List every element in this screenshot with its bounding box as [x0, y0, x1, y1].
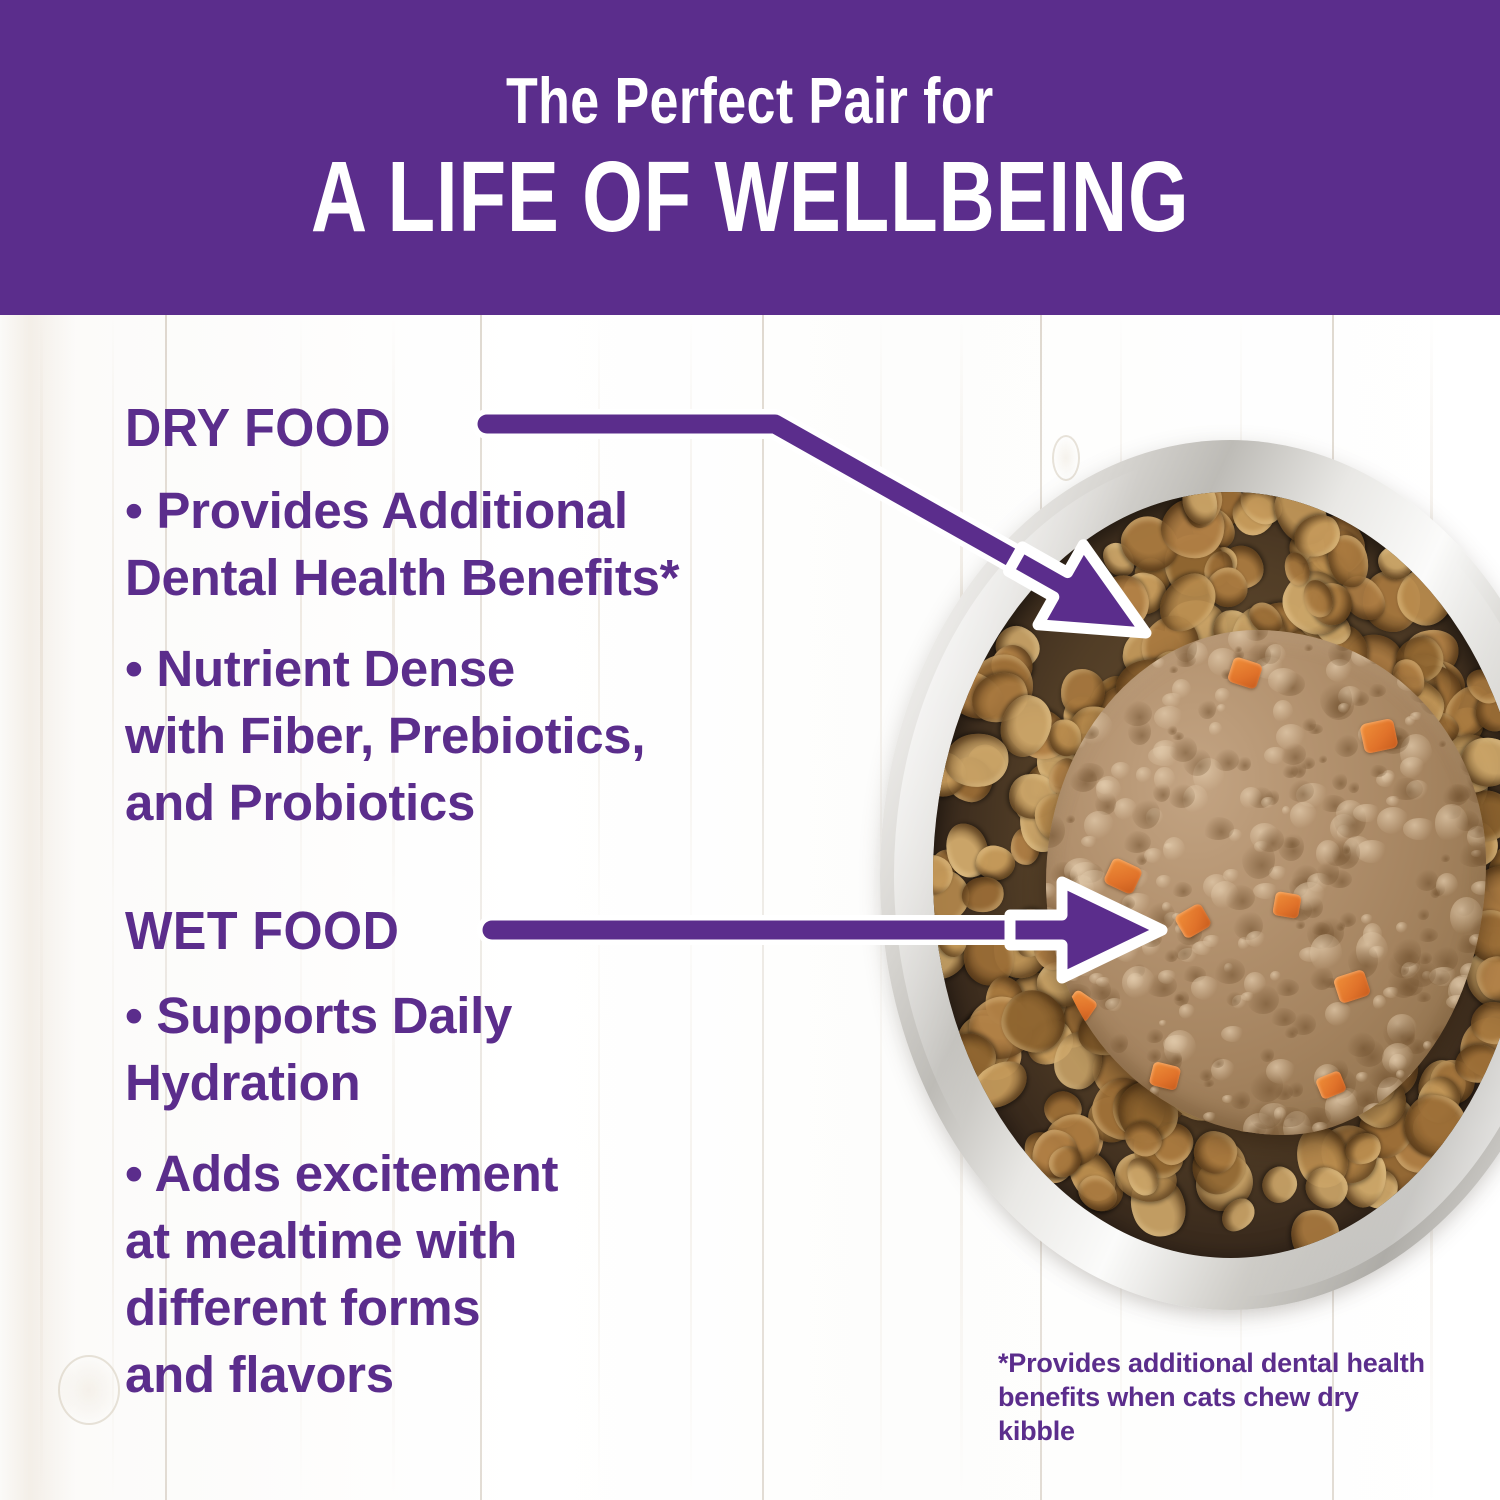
pate-texture	[1186, 630, 1204, 640]
bullet-item: • Supports Daily Hydration	[125, 982, 825, 1116]
pate-texture	[1105, 998, 1124, 1011]
pate-texture	[1417, 928, 1438, 941]
pate-texture	[1169, 736, 1197, 762]
pate-texture	[1083, 1103, 1093, 1111]
pate-texture	[1393, 937, 1422, 966]
pate-texture	[1056, 874, 1081, 898]
pate-texture	[1310, 934, 1342, 972]
pate-texture	[1217, 704, 1226, 712]
pate-texture	[1410, 712, 1423, 720]
pate-texture	[1209, 722, 1222, 736]
pate-texture	[1096, 776, 1121, 804]
pate-texture	[1144, 848, 1163, 863]
pate-texture	[1122, 831, 1151, 853]
promo-infographic: The Perfect Pair for A LIFE OF WELLBEING…	[0, 0, 1500, 1500]
section-heading-wet-food: WET FOOD	[125, 900, 399, 962]
pate-texture	[1202, 1079, 1214, 1087]
pate-texture	[1419, 1115, 1444, 1135]
pate-texture	[1338, 703, 1350, 713]
pate-texture	[1221, 1026, 1245, 1042]
header-banner: The Perfect Pair for A LIFE OF WELLBEING	[0, 0, 1500, 315]
pate-texture	[1127, 973, 1144, 990]
pate-texture	[1328, 638, 1352, 666]
pate-texture	[1054, 1128, 1063, 1134]
pate-texture	[1430, 887, 1440, 898]
pate-texture	[1152, 658, 1166, 669]
bullet-item: • Adds excitement at mealtime with diffe…	[125, 1140, 825, 1408]
pate-texture	[1191, 976, 1219, 999]
pate-texture	[1088, 1057, 1108, 1074]
pate-texture	[1310, 922, 1330, 935]
pate-texture	[1433, 684, 1459, 708]
food-bowl-photo	[880, 440, 1500, 1320]
pate-texture	[1224, 885, 1255, 911]
pate-texture	[1064, 942, 1080, 955]
banner-subtitle: The Perfect Pair for	[506, 68, 994, 133]
pate-texture	[1168, 666, 1178, 672]
pate-texture	[1396, 922, 1408, 933]
pate-texture	[1303, 644, 1314, 652]
carrot-piece	[1272, 891, 1302, 919]
pate-texture	[1198, 1122, 1216, 1135]
pate-texture	[1435, 804, 1469, 842]
pate-texture	[1159, 1020, 1167, 1026]
pate-texture	[1203, 1112, 1217, 1121]
pate-texture	[1312, 1122, 1329, 1134]
pate-texture	[1458, 738, 1478, 758]
pate-texture	[1158, 970, 1177, 984]
pate-texture	[1417, 908, 1429, 920]
pate-texture	[1348, 781, 1359, 792]
pate-texture	[1393, 1109, 1412, 1122]
pate-texture	[1356, 840, 1387, 863]
pate-texture	[1457, 842, 1485, 867]
pate-texture	[1403, 818, 1436, 839]
pate-texture	[1421, 1094, 1443, 1109]
pate-texture	[1332, 772, 1347, 790]
pate-texture	[1115, 942, 1140, 962]
pate-texture	[1136, 767, 1152, 782]
pate-texture	[1244, 972, 1266, 996]
pate-texture	[1049, 720, 1067, 735]
pate-texture	[1146, 1048, 1162, 1062]
pate-texture	[1325, 1002, 1352, 1026]
pate-texture	[1471, 881, 1486, 895]
pate-texture	[1446, 995, 1470, 1009]
section-heading-dry-food: DRY FOOD	[125, 397, 391, 459]
pate-texture	[1132, 661, 1146, 672]
bullet-list-dry-food: • Provides Additional Dental Health Bene…	[125, 477, 825, 836]
pate-texture	[1162, 902, 1171, 911]
pate-texture	[1094, 931, 1115, 950]
pate-texture	[1274, 1107, 1287, 1121]
pate-texture	[1473, 1027, 1486, 1042]
pate-texture	[1440, 854, 1450, 863]
bullet-item: • Provides Additional Dental Health Bene…	[125, 477, 825, 611]
pate-texture	[1274, 979, 1299, 996]
pate-texture	[1454, 1063, 1469, 1079]
pate-texture	[1398, 661, 1410, 671]
pate-texture	[1072, 1103, 1081, 1113]
pate-texture	[1361, 914, 1373, 924]
pate-texture	[1383, 987, 1400, 998]
kibble-piece	[1256, 1161, 1303, 1209]
pate-texture	[1438, 740, 1446, 748]
pate-texture	[1163, 837, 1186, 863]
pate-texture	[1102, 1116, 1120, 1133]
pate-texture	[1334, 734, 1359, 757]
pate-texture	[1163, 1035, 1191, 1053]
kibble-piece	[943, 732, 1010, 789]
pate-texture	[1171, 882, 1191, 898]
pate-texture	[1179, 1004, 1195, 1018]
pate-texture	[1261, 797, 1276, 809]
pate-texture	[1295, 920, 1306, 930]
pate-texture	[1067, 973, 1081, 981]
footnote-text: *Provides additional dental health benef…	[998, 1346, 1438, 1448]
pate-texture	[1046, 813, 1066, 848]
pate-texture	[1448, 665, 1464, 680]
pate-texture	[1451, 1046, 1461, 1057]
pate-texture	[1338, 912, 1356, 927]
pate-texture	[1460, 963, 1481, 981]
pate-texture	[1284, 1026, 1298, 1038]
benefits-column: DRY FOOD • Provides Additional Dental He…	[0, 315, 830, 1500]
pate-texture	[1174, 941, 1192, 960]
pate-texture	[1273, 700, 1293, 723]
pate-texture	[1055, 1033, 1078, 1051]
kibble-piece	[1057, 568, 1090, 604]
pate-texture	[1202, 817, 1234, 839]
banner-title: A LIFE OF WELLBEING	[311, 147, 1190, 247]
pate-texture	[1074, 1114, 1102, 1136]
pate-texture	[1117, 896, 1135, 910]
pate-texture	[1084, 811, 1114, 840]
pate-texture	[1089, 979, 1111, 1000]
pate-texture	[1213, 749, 1238, 771]
pate-texture	[1162, 693, 1184, 707]
pate-texture	[1105, 679, 1117, 690]
pate-texture	[1415, 992, 1431, 1002]
pate-texture	[1213, 958, 1245, 985]
pate-texture	[1318, 755, 1327, 763]
pate-texture	[1222, 1095, 1234, 1103]
kibble-piece	[1287, 1206, 1344, 1258]
pate-texture	[1268, 668, 1299, 693]
pate-texture	[1302, 717, 1316, 731]
pate-texture	[1081, 725, 1098, 739]
bowl-interior	[933, 492, 1500, 1258]
pate-texture	[1192, 941, 1214, 956]
pate-texture	[1110, 1032, 1128, 1053]
pate-texture	[1215, 688, 1230, 702]
pate-texture	[1145, 1029, 1162, 1043]
pate-texture	[1234, 646, 1242, 651]
pate-texture	[1423, 1041, 1432, 1050]
pate-texture	[1451, 724, 1464, 733]
pate-texture	[1274, 1084, 1293, 1100]
pate-texture	[1389, 778, 1422, 800]
pate-texture	[1396, 1070, 1405, 1078]
pate-texture	[1361, 638, 1389, 665]
pate-texture	[1367, 684, 1386, 697]
bowl-rim	[880, 440, 1500, 1310]
bullet-list-wet-food: • Supports Daily Hydration • Adds excite…	[125, 982, 825, 1408]
pate-texture	[1065, 815, 1074, 823]
pate-texture	[1276, 724, 1307, 750]
pate-texture	[1246, 931, 1267, 947]
pate-texture	[1373, 995, 1386, 1010]
pate-texture	[1266, 1059, 1296, 1084]
pate-texture	[1156, 875, 1172, 888]
pate-texture	[1168, 784, 1194, 808]
pate-texture	[1236, 756, 1250, 771]
pate-texture	[1400, 757, 1426, 778]
kibble-piece	[960, 875, 1005, 914]
bullet-item: • Nutrient Dense with Fiber, Prebiotics,…	[125, 635, 825, 836]
pate-texture	[1363, 1103, 1390, 1120]
pate-texture	[1320, 680, 1352, 718]
pate-texture	[1198, 699, 1216, 719]
pate-texture	[1128, 921, 1151, 941]
pate-texture	[1407, 1072, 1428, 1088]
pate-texture	[1223, 869, 1240, 883]
pate-texture	[1445, 784, 1471, 802]
pate-texture	[1316, 840, 1340, 866]
pate-texture	[1471, 723, 1486, 741]
pate-texture	[1282, 806, 1290, 816]
